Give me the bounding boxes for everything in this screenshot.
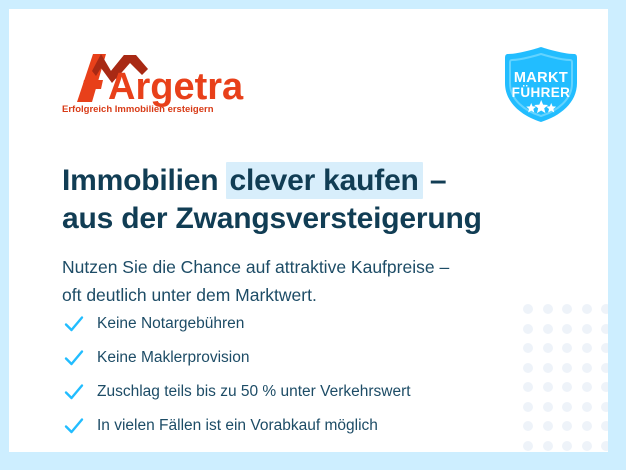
- list-item-label: Zuschlag teils bis zu 50 % unter Verkehr…: [97, 382, 411, 402]
- headline-line1: Immobilien clever kaufen –: [62, 164, 446, 197]
- decorative-dot: [523, 402, 533, 412]
- subheadline: Nutzen Sie die Chance auf attraktive Kau…: [62, 253, 562, 309]
- decorative-dot: [601, 324, 608, 334]
- decorative-dot: [523, 441, 533, 451]
- decorative-dot: [562, 304, 572, 314]
- content-card: Argetra Erfolgreich Immobilien ersteiger…: [9, 9, 608, 452]
- decorative-dot: [582, 441, 592, 451]
- headline-highlight: clever kaufen: [226, 162, 423, 199]
- list-item: Keine Maklerprovision: [63, 343, 523, 373]
- decorative-dot: [562, 324, 572, 334]
- headline-line1-suffix: –: [422, 164, 447, 197]
- check-icon: [63, 313, 85, 335]
- badge-line2: FÜHRER: [512, 85, 571, 100]
- decorative-dot: [543, 382, 553, 392]
- decorative-dot: [562, 421, 572, 431]
- headline-line2: aus der Zwangsversteigerung: [62, 202, 482, 235]
- list-item-label: In vielen Fällen ist ein Vorabkauf mögli…: [97, 416, 378, 436]
- decorative-dot: [562, 382, 572, 392]
- decorative-dot: [601, 402, 608, 412]
- decorative-dot: [582, 304, 592, 314]
- decorative-dot: [543, 441, 553, 451]
- decorative-dot: [582, 363, 592, 373]
- decorative-dot: [582, 324, 592, 334]
- subheadline-line1: Nutzen Sie die Chance auf attraktive Kau…: [62, 257, 449, 277]
- decorative-dot: [601, 441, 608, 451]
- decorative-dot: [601, 421, 608, 431]
- argetra-logo[interactable]: Argetra Erfolgreich Immobilien ersteiger…: [62, 49, 262, 115]
- decorative-dot: [543, 363, 553, 373]
- decorative-dot: [543, 402, 553, 412]
- decorative-dot: [523, 382, 533, 392]
- list-item: Keine Notargebühren: [63, 309, 523, 339]
- decorative-dot: [543, 421, 553, 431]
- headline-line1-prefix: Immobilien: [62, 164, 227, 197]
- decorative-dot: [601, 382, 608, 392]
- decorative-dot: [543, 324, 553, 334]
- decorative-dot: [601, 304, 608, 314]
- decorative-dot: [582, 421, 592, 431]
- decorative-dot: [562, 402, 572, 412]
- decorative-dot: [543, 343, 553, 353]
- headline: Immobilien clever kaufen – aus der Zwang…: [62, 162, 562, 238]
- decorative-dot: [523, 343, 533, 353]
- list-item: In vielen Fällen ist ein Vorabkauf mögli…: [63, 411, 523, 441]
- badge-line1: MARKT: [514, 70, 568, 86]
- decorative-dot: [562, 441, 572, 451]
- decorative-dot: [582, 343, 592, 353]
- logo-tagline: Erfolgreich Immobilien ersteigern: [62, 104, 214, 115]
- check-icon: [63, 381, 85, 403]
- list-item-label: Keine Notargebühren: [97, 314, 244, 334]
- check-icon: [63, 347, 85, 369]
- decorative-dot: [601, 343, 608, 353]
- subheadline-line2: oft deutlich unter dem Marktwert.: [62, 285, 317, 305]
- decorative-dot: [582, 402, 592, 412]
- decorative-dot: [523, 421, 533, 431]
- decorative-dot: [601, 363, 608, 373]
- decorative-dot: [523, 324, 533, 334]
- list-item: Zuschlag teils bis zu 50 % unter Verkehr…: [63, 377, 523, 407]
- decorative-dot: [523, 363, 533, 373]
- market-leader-badge: MARKT FÜHRER: [498, 45, 584, 125]
- benefits-list: Keine Notargebühren Keine Maklerprovisio…: [63, 309, 523, 445]
- decorative-dot: [562, 363, 572, 373]
- logo-wordmark: Argetra: [108, 66, 244, 108]
- promo-banner: Argetra Erfolgreich Immobilien ersteiger…: [0, 0, 626, 470]
- list-item-label: Keine Maklerprovision: [97, 348, 250, 368]
- decorative-dot: [582, 382, 592, 392]
- dot-grid-decoration: [523, 304, 608, 452]
- decorative-dot: [562, 343, 572, 353]
- check-icon: [63, 415, 85, 437]
